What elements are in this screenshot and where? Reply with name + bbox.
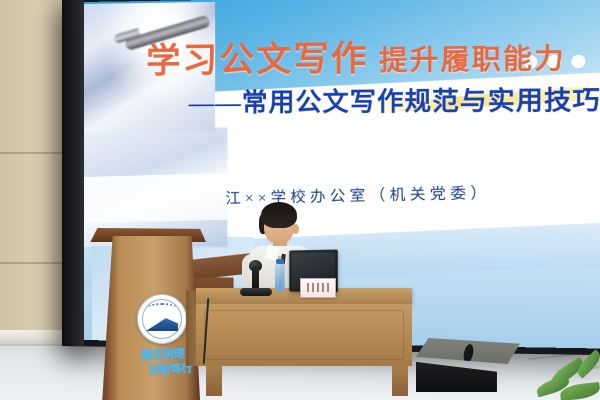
podium-calligraphy-line1: 博文明理 bbox=[140, 348, 185, 362]
slide-subtitle: ——常用公文写作规范与实用技巧 bbox=[189, 80, 600, 120]
hair bbox=[261, 202, 297, 228]
slide-title: 学习公文写作提升履职能力 bbox=[146, 27, 599, 82]
stage-monitor-speaker bbox=[416, 338, 520, 392]
water-bottle-cap bbox=[276, 259, 284, 264]
slide-title-part1: 学习公文写作 bbox=[146, 40, 368, 80]
desk-leg-left bbox=[206, 366, 222, 396]
school-emblem-icon bbox=[137, 294, 187, 344]
photo-scene: 学习公文写作提升履职能力 ——常用公文写作规范与实用技巧 江××学校办公室（机关… bbox=[0, 0, 600, 400]
led-screen-left-edge bbox=[62, 0, 84, 346]
microphone-base bbox=[240, 288, 272, 296]
desk-leg-right bbox=[392, 366, 408, 396]
water-bottle bbox=[275, 263, 285, 292]
ear bbox=[292, 224, 299, 234]
potted-plant bbox=[530, 354, 600, 400]
slide-title-part2: 提升履职能力 bbox=[379, 43, 566, 76]
speaker-handle-icon bbox=[462, 343, 475, 363]
name-card bbox=[300, 278, 336, 298]
desk-front bbox=[196, 304, 412, 366]
